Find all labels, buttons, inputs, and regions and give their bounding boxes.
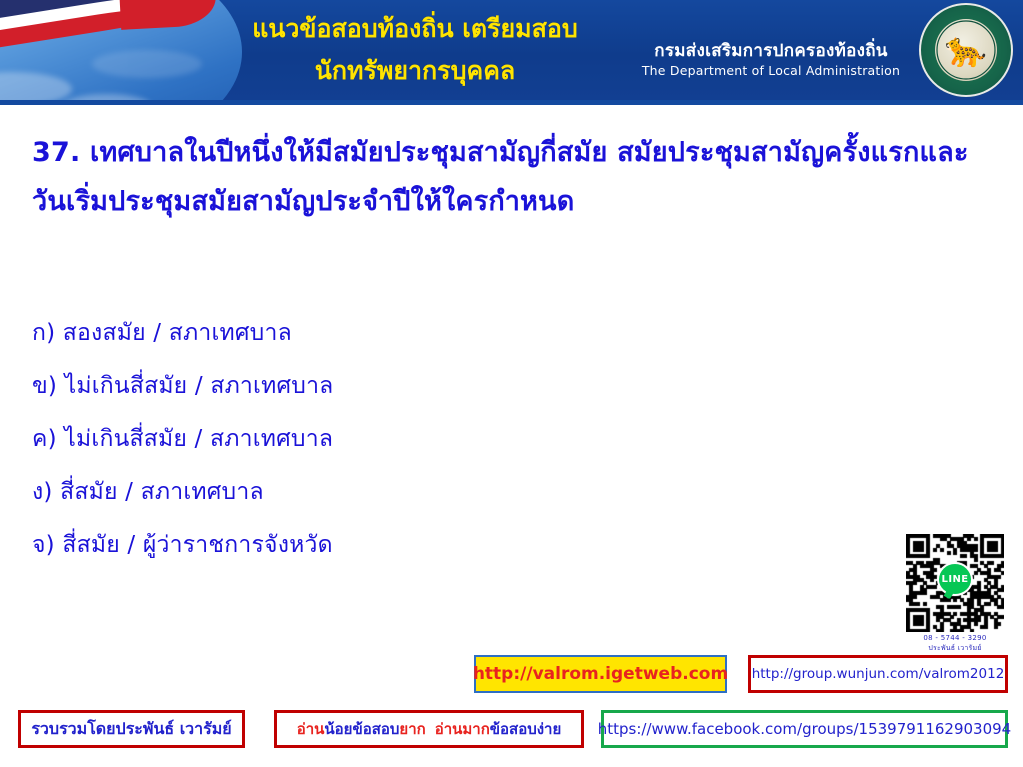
- slide-root: แนวข้อสอบท้องถิ่น เตรียมสอบ นักทรัพยากรบ…: [0, 0, 1023, 767]
- header-title-line2: นักทรัพยากรบุคคล: [200, 50, 630, 92]
- department-name-english: The Department of Local Administration: [640, 62, 902, 79]
- facebook-url-box[interactable]: https://www.facebook.com/groups/15397911…: [601, 710, 1008, 748]
- qr-caption-name: ประพันธ์ เวารัมย์: [901, 643, 1009, 653]
- motto-box: อ่านน้อยข้อสอบยากอ่านมากข้อสอบง่าย: [274, 710, 584, 748]
- group-url-box[interactable]: http://group.wunjun.com/valrom2012: [748, 655, 1008, 693]
- motto-part-1: อ่าน: [297, 717, 325, 741]
- line-logo-icon: LINE: [939, 564, 971, 594]
- header-banner: แนวข้อสอบท้องถิ่น เตรียมสอบ นักทรัพยากรบ…: [0, 0, 1023, 100]
- seal-inner-disc: 🐆: [935, 19, 997, 81]
- cloud-decoration: [0, 72, 72, 100]
- motto-part-5: ข้อสอบง่าย: [490, 717, 561, 741]
- website-url-box[interactable]: http://valrom.igetweb.com: [474, 655, 727, 693]
- author-credit-box: รวบรวมโดยประพันธ์ เวารัมย์: [18, 710, 245, 748]
- answer-choice-ka[interactable]: ก) สองสมัย / สภาเทศบาล: [32, 307, 732, 360]
- motto-part-4: อ่านมาก: [435, 717, 490, 741]
- qr-code-image[interactable]: LINE: [906, 534, 1004, 632]
- header-title: แนวข้อสอบท้องถิ่น เตรียมสอบ นักทรัพยากรบ…: [200, 8, 630, 92]
- answer-choice-ngo[interactable]: ง) สี่สมัย / สภาเทศบาล: [32, 466, 732, 519]
- department-name-thai: กรมส่งเสริมการปกครองท้องถิ่น: [640, 40, 902, 62]
- department-seal-icon: 🐆: [919, 3, 1013, 97]
- motto-part-2: น้อยข้อสอบ: [324, 717, 399, 741]
- line-qr-code-icon[interactable]: LINE 08 - 5744 - 3290 ประพันธ์ เวารัมย์: [901, 534, 1009, 653]
- answer-choice-kho[interactable]: ข) ไม่เกินสี่สมัย / สภาเทศบาล: [32, 360, 732, 413]
- answer-choice-kho2[interactable]: ค) ไม่เกินสี่สมัย / สภาเทศบาล: [32, 413, 732, 466]
- header-divider: [0, 100, 1023, 105]
- qr-caption-phone: 08 - 5744 - 3290: [901, 633, 1009, 643]
- answer-choice-list: ก) สองสมัย / สภาเทศบาล ข) ไม่เกินสี่สมัย…: [32, 307, 732, 572]
- motto-part-3: ยาก: [399, 717, 425, 741]
- department-name: กรมส่งเสริมการปกครองท้องถิ่น The Departm…: [640, 40, 902, 79]
- question-text: 37. เทศบาลในปีหนึ่งให้มีสมัยประชุมสามัญก…: [32, 128, 994, 226]
- answer-choice-cho[interactable]: จ) สี่สมัย / ผู้ว่าราชการจังหวัด: [32, 519, 732, 572]
- header-title-line1: แนวข้อสอบท้องถิ่น เตรียมสอบ: [200, 8, 630, 50]
